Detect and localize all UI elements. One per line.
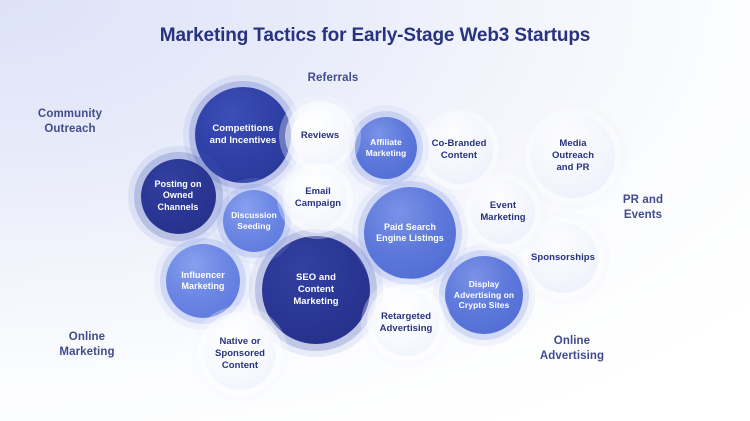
bubble-chart-infographic: Marketing Tactics for Early-Stage Web3 S… [0,0,750,421]
bubble-paid-search-engine-listings[interactable]: Paid Search Engine Listings [364,187,456,279]
bubble-competitions-and-incentives[interactable]: Competitions and Incentives [195,87,291,183]
bubble-display-advertising-crypto-sites[interactable]: Display Advertising on Crypto Sites [445,256,523,334]
bubble-event-marketing[interactable]: Event Marketing [471,180,535,244]
bubble-sponsorships[interactable]: Sponsorships [528,223,598,293]
bubble-posting-on-owned-channels[interactable]: Posting on Owned Channels [141,159,216,234]
bubble-native-or-sponsored-content[interactable]: Native or Sponsored Content [204,318,276,390]
category-label-referrals: Referrals [308,71,359,86]
bubble-influencer-marketing[interactable]: Influencer Marketing [166,244,240,318]
category-label-online-marketing: Online Marketing [59,330,114,359]
bubble-co-branded-content[interactable]: Co-Branded Content [425,116,493,184]
bubble-affiliate-marketing[interactable]: Affiliate Marketing [355,117,417,179]
bubble-discussion-seeding[interactable]: Discussion Seeding [223,190,285,252]
bubble-seo-and-content-marketing[interactable]: SEO and Content Marketing [262,236,370,344]
category-label-online-advertising: Online Advertising [540,334,604,363]
bubble-retargeted-advertising[interactable]: Retargeted Advertising [373,290,439,356]
bubble-media-outreach-and-pr[interactable]: Media Outreach and PR [531,114,615,198]
bubble-email-campaign[interactable]: Email Campaign [289,169,347,227]
category-label-pr-and-events: PR and Events [623,193,663,222]
category-label-community-outreach: Community Outreach [38,107,102,136]
bubble-reviews[interactable]: Reviews [291,107,349,165]
page-title: Marketing Tactics for Early-Stage Web3 S… [0,25,750,47]
